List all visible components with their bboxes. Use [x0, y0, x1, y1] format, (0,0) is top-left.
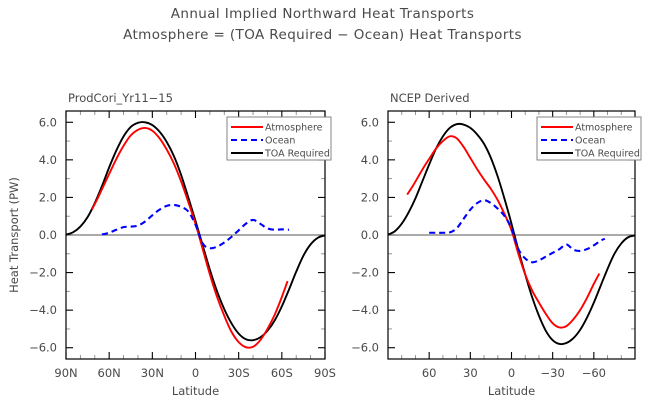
panel-right: NCEP Derived60300−30−60−6.0−4.0−2.00.02.… — [351, 91, 641, 398]
y-tick-label: 4.0 — [361, 153, 379, 167]
y-tick-label: −2.0 — [29, 266, 57, 280]
legend-label-ocean: Ocean — [575, 136, 605, 147]
y-tick-label: 0.0 — [361, 228, 379, 242]
y-tick-label: 2.0 — [361, 190, 379, 204]
x-tick-label: 30 — [463, 366, 478, 380]
figure-title: Annual Implied Northward Heat Transports… — [0, 4, 645, 46]
panel-left: ProdCori_Yr11−1590N60N30N030S60S90S−6.0−… — [7, 91, 336, 398]
x-tick-label: 0 — [508, 366, 515, 380]
x-tick-label: 60 — [422, 366, 437, 380]
x-axis-title: Latitude — [488, 384, 535, 398]
y-tick-label: −4.0 — [351, 303, 379, 317]
x-tick-label: 30N — [141, 366, 164, 380]
y-tick-label: −4.0 — [29, 303, 57, 317]
legend-label-toa-required: TOA Required — [574, 149, 640, 160]
panel-title-right: NCEP Derived — [390, 91, 470, 105]
y-tick-label: −2.0 — [351, 266, 379, 280]
figure-title-line-1: Annual Implied Northward Heat Transports — [0, 4, 645, 25]
y-tick-label: 6.0 — [361, 115, 379, 129]
y-tick-label: 2.0 — [39, 190, 57, 204]
legend-label-toa-required: TOA Required — [264, 149, 330, 160]
x-axis-title: Latitude — [172, 384, 219, 398]
x-tick-label: 60S — [271, 366, 293, 380]
y-tick-label: −6.0 — [351, 341, 379, 355]
y-tick-label: 6.0 — [39, 115, 57, 129]
series-atmosphere — [407, 136, 599, 327]
x-tick-label: −30 — [541, 366, 565, 380]
x-tick-label: 90N — [54, 366, 77, 380]
x-tick-label: 30S — [228, 366, 250, 380]
series-ocean — [429, 200, 605, 262]
legend-label-atmosphere: Atmosphere — [575, 123, 633, 134]
x-tick-label: 60N — [98, 366, 121, 380]
series-atmosphere — [92, 128, 288, 348]
y-tick-label: 0.0 — [39, 228, 57, 242]
legend-label-atmosphere: Atmosphere — [265, 123, 323, 134]
x-tick-label: −60 — [582, 366, 606, 380]
legend-left: AtmosphereOceanTOA Required — [227, 117, 331, 160]
x-tick-label: 90S — [314, 366, 336, 380]
y-tick-label: −6.0 — [29, 341, 57, 355]
x-tick-label: 0 — [192, 366, 199, 380]
series-ocean — [102, 205, 289, 248]
legend-right: AtmosphereOceanTOA Required — [537, 117, 641, 160]
figure-title-line-2: Atmosphere = (TOA Required − Ocean) Heat… — [0, 25, 645, 46]
y-axis-title: Heat Transport (PW) — [7, 177, 21, 293]
heat-transport-figure: Annual Implied Northward Heat Transports… — [0, 0, 645, 401]
panel-title-left: ProdCori_Yr11−15 — [68, 91, 173, 105]
plot-canvas: ProdCori_Yr11−1590N60N30N030S60S90S−6.0−… — [0, 0, 645, 401]
y-tick-label: 4.0 — [39, 153, 57, 167]
legend-label-ocean: Ocean — [265, 136, 295, 147]
